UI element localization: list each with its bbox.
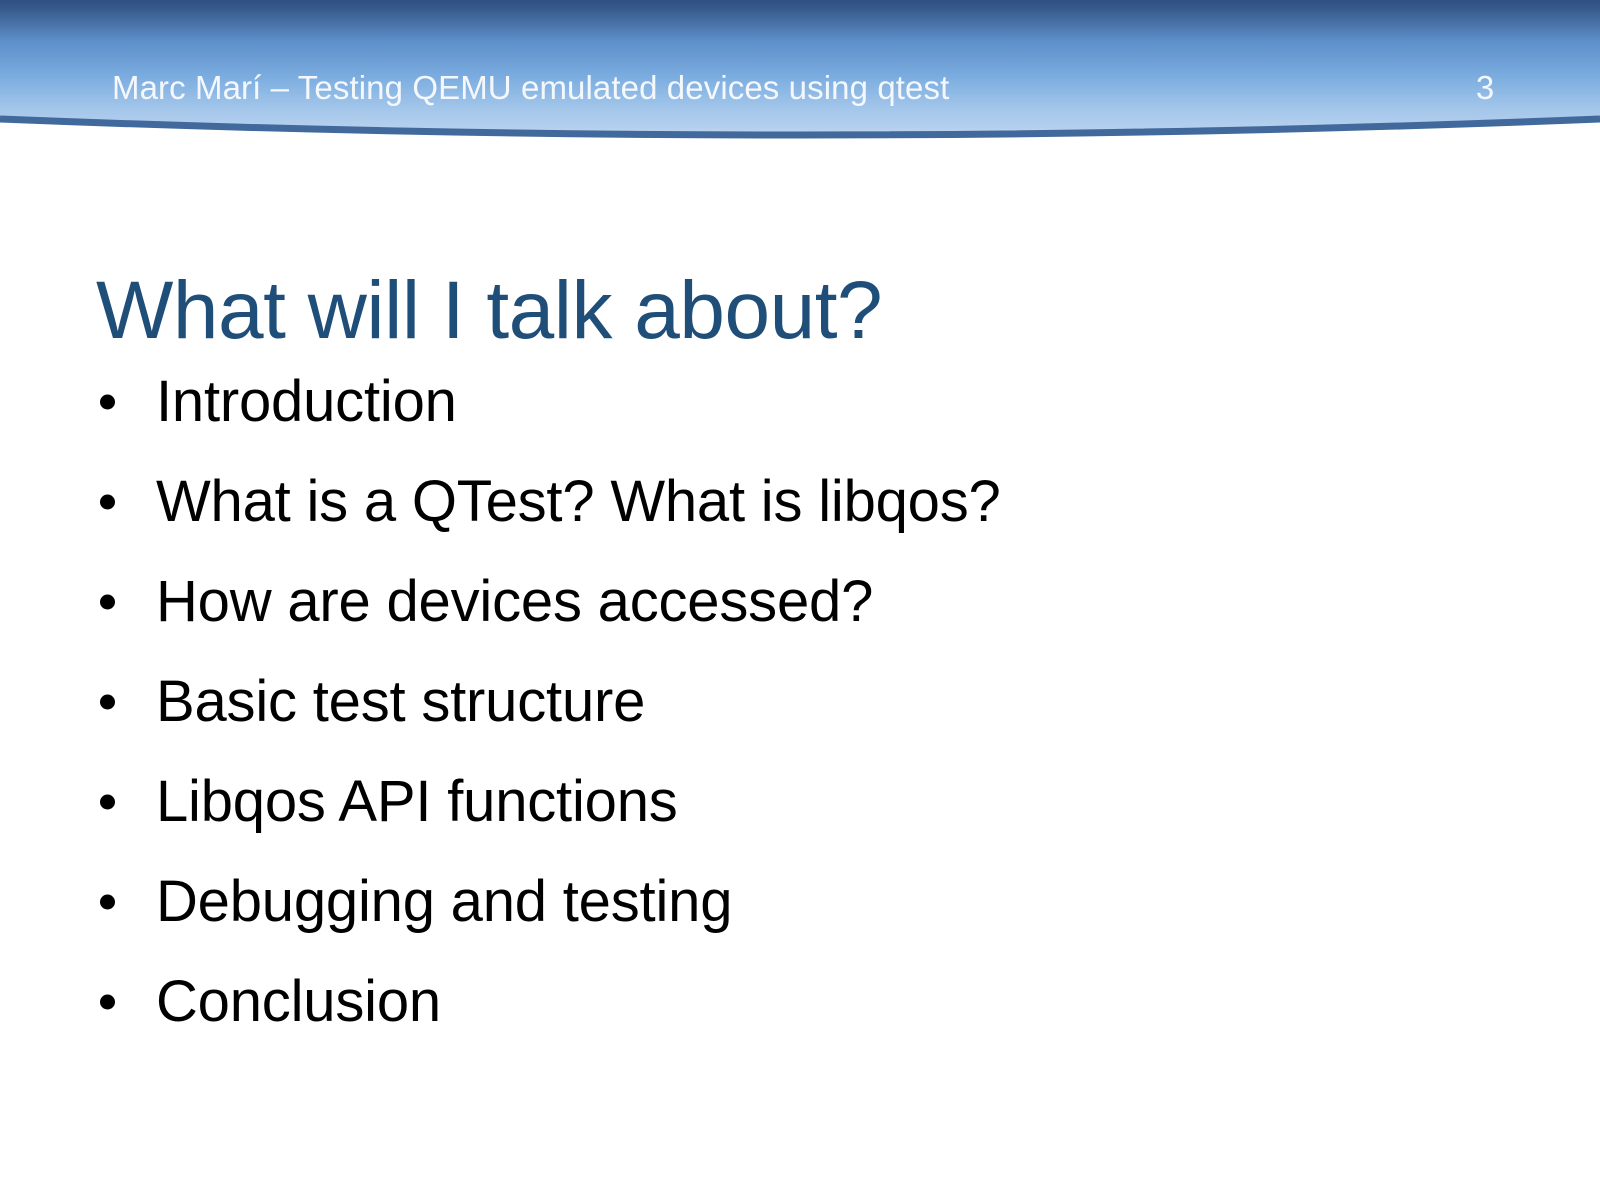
list-item-label: Conclusion (156, 969, 441, 1035)
presentation-slide: Marc Marí – Testing QEMU emulated device… (0, 0, 1600, 1200)
list-item-label: Libqos API functions (156, 769, 678, 835)
list-item-label: How are devices accessed? (156, 569, 873, 635)
bullet-dot-icon (100, 695, 115, 710)
header-title: Marc Marí – Testing QEMU emulated device… (112, 68, 949, 108)
bullet-dot-icon (100, 795, 115, 810)
bullet-dot-icon (100, 395, 115, 410)
bullet-dot-icon (100, 595, 115, 610)
list-item: Libqos API functions (92, 752, 1532, 852)
list-item-label: Debugging and testing (156, 869, 732, 935)
list-item: Conclusion (92, 952, 1532, 1052)
bullet-dot-icon (100, 995, 115, 1010)
list-item: Introduction (92, 352, 1532, 452)
list-item: How are devices accessed? (92, 552, 1532, 652)
list-item: Basic test structure (92, 652, 1532, 752)
list-item: Debugging and testing (92, 852, 1532, 952)
list-item: What is a QTest? What is libqos? (92, 452, 1532, 552)
bullet-dot-icon (100, 495, 115, 510)
slide-page-number: 3 (1455, 68, 1515, 108)
bullet-dot-icon (100, 895, 115, 910)
slide-header-banner: Marc Marí – Testing QEMU emulated device… (0, 0, 1600, 146)
list-item-label: What is a QTest? What is libqos? (156, 469, 1001, 535)
list-item-label: Introduction (156, 369, 457, 435)
slide-title: What will I talk about? (96, 263, 1516, 359)
list-item-label: Basic test structure (156, 669, 645, 735)
agenda-bullet-list: Introduction What is a QTest? What is li… (92, 352, 1532, 1052)
